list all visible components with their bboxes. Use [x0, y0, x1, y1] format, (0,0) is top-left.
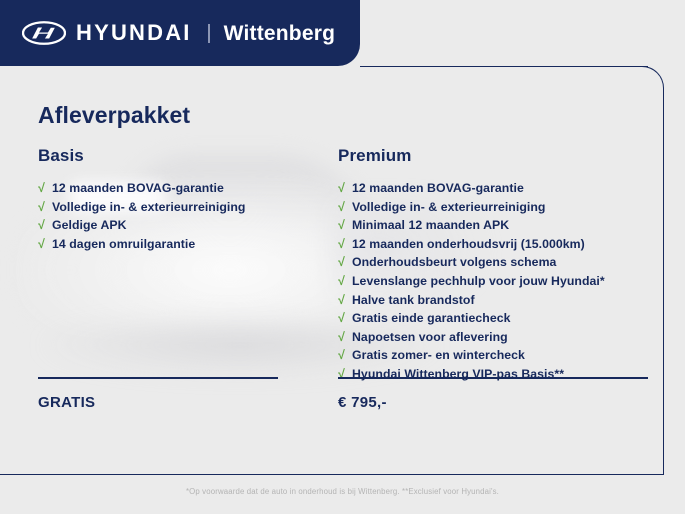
hyundai-logo-icon — [22, 21, 66, 45]
feature-label: 14 dagen omruilgarantie — [52, 236, 195, 253]
check-icon: √ — [38, 180, 52, 197]
check-icon: √ — [338, 329, 352, 346]
list-item: √Volledige in- & exterieurreiniging — [38, 199, 328, 216]
feature-label: 12 maanden BOVAG-garantie — [352, 180, 524, 197]
dealer-name-label: Wittenberg — [224, 23, 335, 44]
feature-label: Halve tank brandstof — [352, 292, 475, 309]
check-icon: √ — [338, 180, 352, 197]
price-divider-basis — [38, 377, 278, 379]
list-item: √Onderhoudsbeurt volgens schema — [338, 254, 648, 271]
check-icon: √ — [38, 217, 52, 234]
column-basis: Basis √12 maanden BOVAG-garantie√Volledi… — [38, 146, 328, 254]
price-value-premium: € 795,- — [338, 394, 648, 411]
list-item: √Geldige APK — [38, 217, 328, 234]
list-item: √Volledige in- & exterieurreiniging — [338, 199, 648, 216]
footnote-text: *Op voorwaarde dat de auto in onderhoud … — [0, 487, 685, 496]
feature-label: Volledige in- & exterieurreiniging — [352, 199, 545, 216]
check-icon: √ — [338, 254, 352, 271]
price-block-premium: € 795,- — [338, 377, 648, 411]
frame-bottom-border — [0, 474, 664, 475]
brand-name-label: HYUNDAI — [76, 22, 192, 44]
column-title-basis: Basis — [38, 146, 328, 166]
price-block-basis: GRATIS — [38, 377, 278, 411]
feature-label: Geldige APK — [52, 217, 127, 234]
check-icon: √ — [38, 236, 52, 253]
list-item: √12 maanden BOVAG-garantie — [338, 180, 648, 197]
afleverpakket-poster: HYUNDAI Wittenberg Afleverpakket Basis √… — [0, 0, 685, 514]
brand-header-bar: HYUNDAI Wittenberg — [0, 0, 360, 66]
check-icon: √ — [338, 292, 352, 309]
check-icon: √ — [338, 347, 352, 364]
feature-label: Levenslange pechhulp voor jouw Hyundai* — [352, 273, 605, 290]
feature-list-premium: √12 maanden BOVAG-garantie√Volledige in-… — [338, 180, 648, 383]
list-item: √12 maanden onderhoudsvrij (15.000km) — [338, 236, 648, 253]
feature-label: Gratis zomer- en wintercheck — [352, 347, 525, 364]
list-item: √Gratis einde garantiecheck — [338, 310, 648, 327]
check-icon: √ — [338, 310, 352, 327]
check-icon: √ — [338, 236, 352, 253]
poster-content: Afleverpakket Basis √12 maanden BOVAG-ga… — [0, 66, 685, 474]
feature-list-basis: √12 maanden BOVAG-garantie√Volledige in-… — [38, 180, 328, 252]
list-item: √14 dagen omruilgarantie — [38, 236, 328, 253]
column-title-premium: Premium — [338, 146, 648, 166]
list-item: √Levenslange pechhulp voor jouw Hyundai* — [338, 273, 648, 290]
feature-label: 12 maanden BOVAG-garantie — [52, 180, 224, 197]
list-item: √Napoetsen voor aflevering — [338, 329, 648, 346]
list-item: √12 maanden BOVAG-garantie — [38, 180, 328, 197]
check-icon: √ — [338, 199, 352, 216]
feature-label: Gratis einde garantiecheck — [352, 310, 511, 327]
list-item: √Halve tank brandstof — [338, 292, 648, 309]
vertical-divider-icon — [208, 24, 210, 43]
feature-label: Volledige in- & exterieurreiniging — [52, 199, 245, 216]
price-value-basis: GRATIS — [38, 394, 278, 411]
page-title: Afleverpakket — [38, 102, 190, 129]
feature-label: Napoetsen voor aflevering — [352, 329, 508, 346]
column-premium: Premium √12 maanden BOVAG-garantie√Volle… — [338, 146, 648, 385]
list-item: √Gratis zomer- en wintercheck — [338, 347, 648, 364]
price-divider-premium — [338, 377, 648, 379]
check-icon: √ — [38, 199, 52, 216]
check-icon: √ — [338, 273, 352, 290]
feature-label: Onderhoudsbeurt volgens schema — [352, 254, 556, 271]
check-icon: √ — [338, 217, 352, 234]
feature-label: Minimaal 12 maanden APK — [352, 217, 509, 234]
list-item: √Minimaal 12 maanden APK — [338, 217, 648, 234]
feature-label: 12 maanden onderhoudsvrij (15.000km) — [352, 236, 585, 253]
